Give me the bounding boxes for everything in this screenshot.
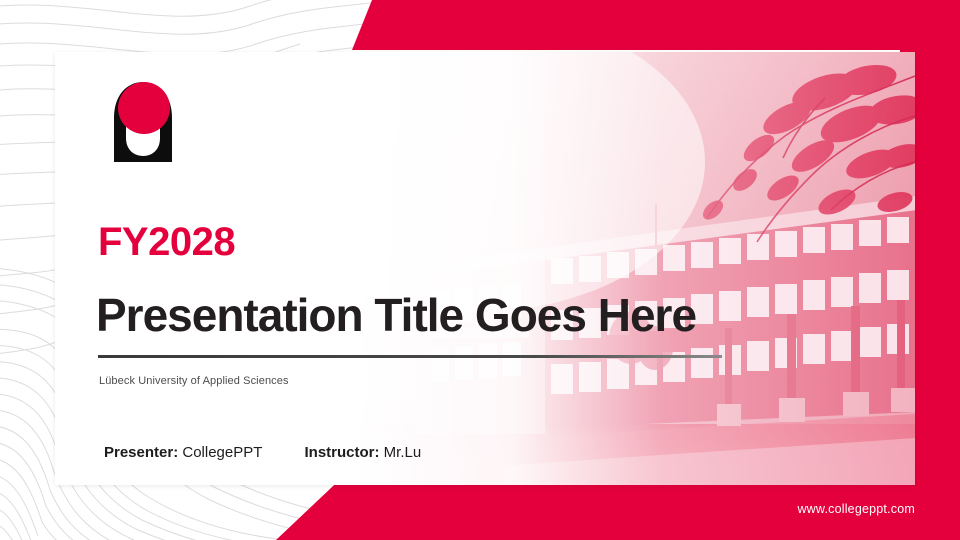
fiscal-year-label: FY2028 xyxy=(98,222,235,262)
instructor-value: Mr.Lu xyxy=(384,444,422,461)
page-title: Presentation Title Goes Here xyxy=(96,292,696,338)
logo-red-circle xyxy=(118,82,170,134)
lubeck-university-logo xyxy=(104,76,182,168)
title-divider xyxy=(98,355,722,358)
footer-url[interactable]: www.collegeppt.com xyxy=(797,502,915,516)
red-shape-top xyxy=(352,0,960,50)
presenter-value: CollegePPT xyxy=(182,444,262,461)
instructor-label: Instructor: xyxy=(305,444,380,461)
content-card xyxy=(55,52,915,485)
presentation-slide: FY2028 Presentation Title Goes Here Lübe… xyxy=(0,0,960,540)
credits-line: Presenter: CollegePPT Instructor: Mr.Lu xyxy=(104,444,421,461)
university-campus-building-photo xyxy=(355,52,915,485)
school-name: Lübeck University of Applied Sciences xyxy=(99,375,289,387)
presenter-label: Presenter: xyxy=(104,444,178,461)
